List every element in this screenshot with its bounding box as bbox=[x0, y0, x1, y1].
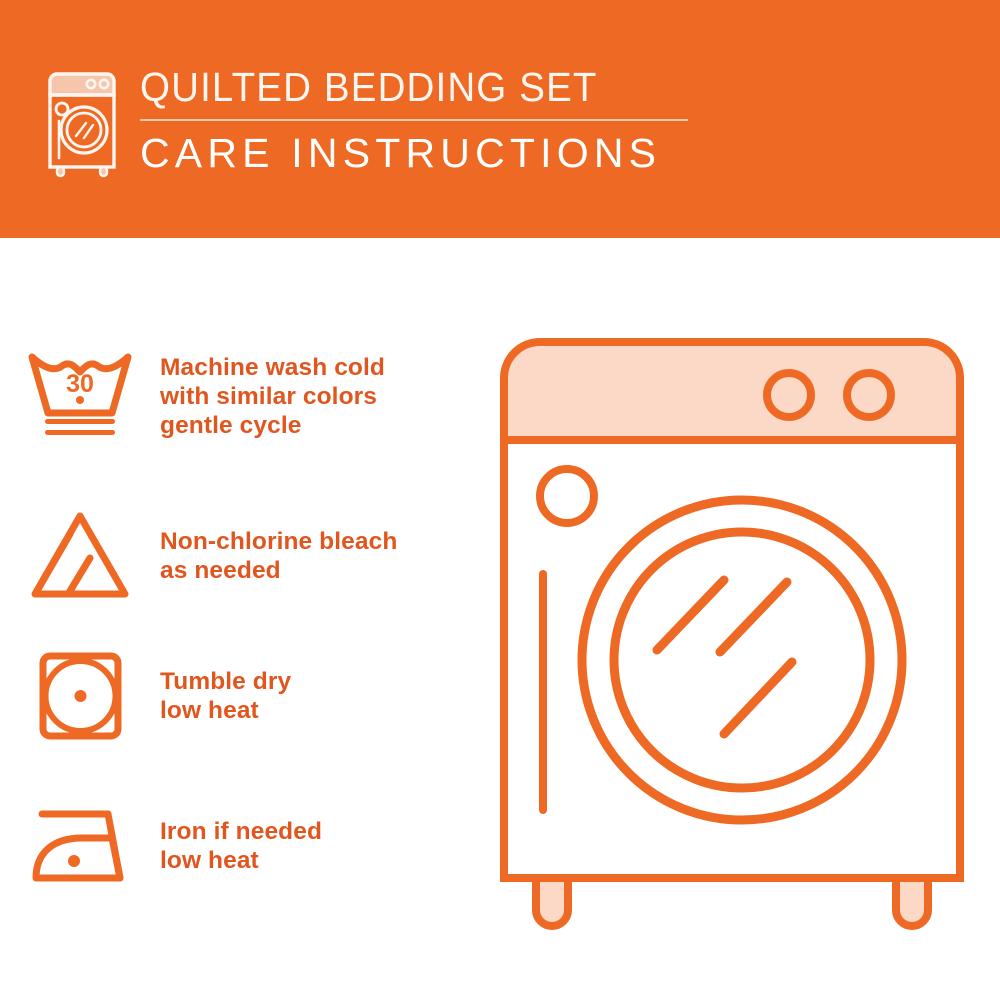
care-item-label: Tumble dry low heat bbox=[160, 667, 291, 725]
knob-left bbox=[767, 373, 811, 417]
non-chlorine-bleach-triangle-icon bbox=[0, 510, 160, 602]
knob-right bbox=[847, 373, 891, 417]
care-item-bleach: Non-chlorine bleach as needed bbox=[0, 510, 500, 602]
page-title: QUILTED BEDDING SET bbox=[140, 62, 798, 112]
leg-right bbox=[896, 878, 928, 926]
header-text-block: QUILTED BEDDING SET CARE INSTRUCTIONS bbox=[140, 62, 840, 179]
care-item-label: Iron if needed low heat bbox=[160, 817, 322, 875]
leg-left bbox=[536, 878, 568, 926]
care-symbol-list: 30 Machine wash cold with similar colors… bbox=[0, 238, 500, 1000]
care-item-machine-wash: 30 Machine wash cold with similar colors… bbox=[0, 350, 500, 442]
drum-reflection-strokes bbox=[657, 580, 792, 734]
header-banner: QUILTED BEDDING SET CARE INSTRUCTIONS bbox=[0, 0, 1000, 238]
washing-machine-icon bbox=[44, 68, 120, 180]
machine-body bbox=[504, 440, 960, 878]
title-divider bbox=[140, 119, 688, 121]
drum-inner-ring bbox=[614, 532, 870, 788]
care-item-tumble-dry: Tumble dry low heat bbox=[0, 650, 500, 742]
care-item-iron: Iron if needed low heat bbox=[0, 800, 500, 892]
washing-machine-illustration bbox=[492, 330, 972, 950]
care-item-label: Non-chlorine bleach as needed bbox=[160, 527, 397, 585]
wash-tub-30-icon: 30 bbox=[0, 350, 160, 442]
indicator-light bbox=[540, 469, 594, 523]
care-instructions-page: QUILTED BEDDING SET CARE INSTRUCTIONS 30 bbox=[0, 0, 1000, 1000]
drum-outer-ring bbox=[582, 500, 902, 820]
iron-low-heat-icon bbox=[0, 800, 160, 892]
wash-temperature-label: 30 bbox=[66, 370, 94, 398]
page-subtitle: CARE INSTRUCTIONS bbox=[140, 127, 840, 179]
tumble-dry-low-icon bbox=[0, 650, 160, 742]
care-item-label: Machine wash cold with similar colors ge… bbox=[160, 353, 385, 440]
